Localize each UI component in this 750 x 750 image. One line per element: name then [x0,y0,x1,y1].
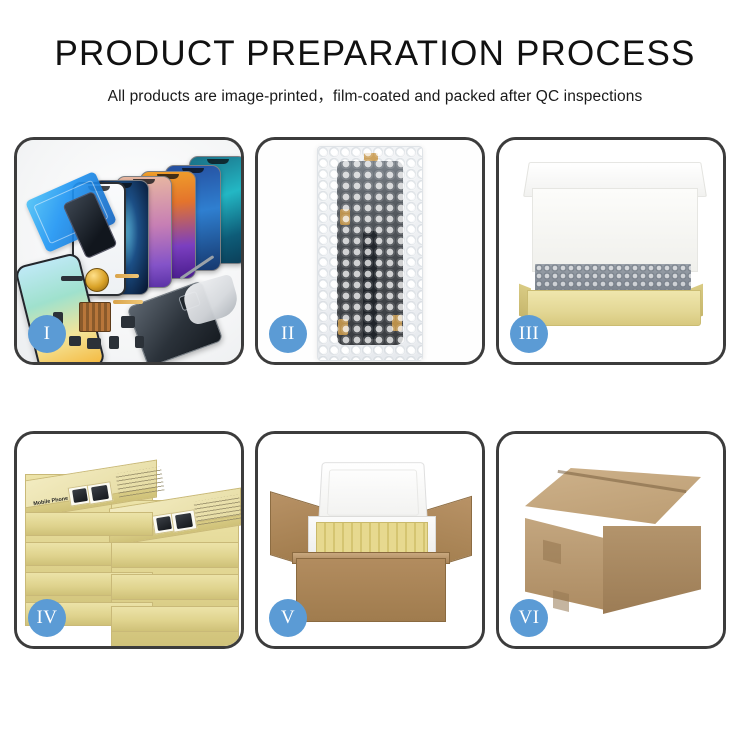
repair-tool [180,274,241,327]
step-card-1[interactable]: I [14,137,244,365]
small-component [135,336,144,348]
process-steps-grid: I II III [14,137,736,649]
page-header: PRODUCT PREPARATION PROCESS All products… [0,0,750,106]
carton-tape-lower [553,590,569,612]
step-card-2[interactable]: II [255,137,485,365]
notch-icon [207,159,229,164]
step-badge-3: III [510,315,548,353]
phone-image-on-box [72,488,88,503]
retail-box-layer [111,606,239,632]
retail-box-layer [111,542,239,568]
tape-tab [338,319,348,335]
flex-cable-part [115,274,139,278]
step-card-6[interactable]: VI [496,431,726,649]
step-card-5[interactable]: V [255,431,485,649]
phone-image-on-box [156,516,172,531]
small-component [109,336,119,349]
carton-top-face [525,468,701,524]
bubble-wrap-bag [317,146,423,361]
bubble-wrap-contents [535,264,691,292]
flex-cable-part [113,300,143,304]
foam-box-lid [318,462,428,524]
tape-tab [392,315,402,331]
box-inner-wall [532,188,698,272]
tape-tab [364,153,378,161]
copper-grid-chip [79,302,111,332]
page-title: PRODUCT PREPARATION PROCESS [0,36,750,73]
step-badge-1: I [28,315,66,353]
gold-coil-part [85,268,109,292]
box-front-panel [527,290,701,326]
page-subtitle: All products are image-printed，film-coat… [0,84,750,106]
step-badge-6: VI [510,599,548,637]
step-badge-5: V [269,599,307,637]
carton-front-panel [296,558,446,622]
step-card-4[interactable]: Mobile Phone Spare Parts Mobile Phone Sp… [14,431,244,649]
retail-box-window-2 [87,481,114,505]
phone-image-on-box [175,513,193,529]
small-component [87,338,101,349]
carton-right-face [603,526,701,614]
step-badge-2: II [269,315,307,353]
tape-tab [340,209,350,225]
step-badge-4: IV [28,599,66,637]
small-component [69,336,81,346]
retail-box-layer [25,512,153,536]
retail-box-layer [111,574,239,600]
step-card-3[interactable]: III [496,137,726,365]
small-component [121,316,135,328]
carton-tape-upper [543,540,561,564]
wrapped-flex-cable [363,231,377,339]
small-component [61,276,83,281]
retail-box-window-4 [171,509,198,533]
phone-image-on-box [91,485,109,501]
